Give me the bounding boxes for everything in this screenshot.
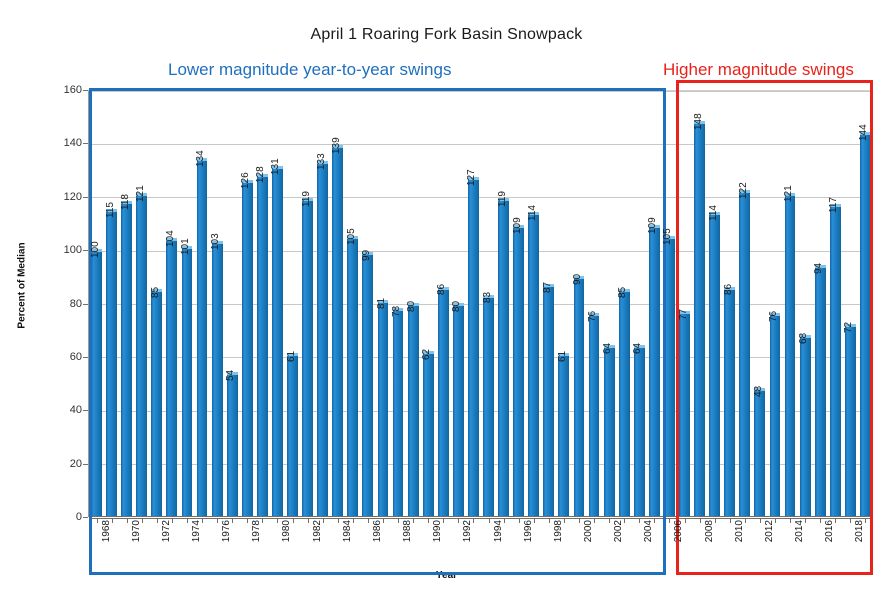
bar-value-label: 139 bbox=[331, 137, 342, 154]
x-axis-tick-mark bbox=[564, 518, 565, 523]
bar bbox=[151, 289, 162, 516]
bar-value-label: 105 bbox=[662, 228, 673, 245]
bar bbox=[815, 265, 826, 516]
x-axis-tick-mark bbox=[232, 518, 233, 523]
bar-value-label: 119 bbox=[497, 191, 508, 207]
x-axis-year-label: 2016 bbox=[824, 520, 835, 542]
gridline bbox=[89, 144, 871, 145]
y-axis-tick-label: 100 bbox=[42, 244, 82, 256]
bar bbox=[317, 161, 328, 516]
bar bbox=[106, 209, 117, 516]
x-axis-year-label: 2004 bbox=[643, 520, 654, 542]
bar bbox=[574, 276, 585, 516]
bar-value-label: 86 bbox=[436, 284, 447, 295]
x-axis-year-label: 1980 bbox=[281, 520, 292, 542]
bar bbox=[754, 388, 765, 516]
y-axis-tick-label: 40 bbox=[42, 404, 82, 416]
x-axis-year-label: 1992 bbox=[462, 520, 473, 542]
gridline bbox=[89, 518, 871, 519]
bar bbox=[558, 353, 569, 516]
bar-value-label: 48 bbox=[753, 386, 764, 397]
bar-value-label: 131 bbox=[270, 159, 281, 176]
bar-value-label: 76 bbox=[587, 311, 598, 322]
chart-canvas: April 1 Roaring Fork Basin Snowpack Lowe… bbox=[0, 0, 893, 601]
x-axis-year-label: 1990 bbox=[432, 520, 443, 542]
bar-value-label: 64 bbox=[632, 343, 643, 354]
bar-value-label: 101 bbox=[180, 239, 191, 256]
bar-value-label: 126 bbox=[240, 172, 251, 189]
x-axis-year-label: 2010 bbox=[734, 520, 745, 542]
x-axis-year-label: 2000 bbox=[583, 520, 594, 542]
bar bbox=[468, 177, 479, 516]
bar-value-label: 144 bbox=[858, 124, 869, 141]
x-axis-year-label: 1984 bbox=[342, 520, 353, 542]
bar bbox=[378, 300, 389, 516]
bar bbox=[634, 345, 645, 516]
bar-value-label: 121 bbox=[135, 185, 146, 202]
bar-value-label: 64 bbox=[602, 343, 613, 354]
y-axis-tick-label: 140 bbox=[42, 137, 82, 149]
bar bbox=[724, 287, 735, 517]
bar-value-label: 114 bbox=[527, 205, 538, 221]
bar bbox=[694, 121, 705, 516]
bar-value-label: 61 bbox=[286, 351, 297, 362]
x-axis-tick-mark bbox=[473, 518, 474, 523]
bar bbox=[332, 145, 343, 516]
y-axis-tick-mark bbox=[83, 517, 88, 518]
y-axis-tick-mark bbox=[83, 410, 88, 411]
x-axis-tick-mark bbox=[338, 518, 339, 523]
bar-value-label: 90 bbox=[572, 274, 583, 285]
x-axis-tick-mark bbox=[127, 518, 128, 523]
x-axis-tick-mark bbox=[443, 518, 444, 523]
x-axis-tick-mark bbox=[850, 518, 851, 523]
bar-value-label: 81 bbox=[376, 298, 387, 309]
bar bbox=[136, 193, 147, 516]
x-axis-tick-mark bbox=[790, 518, 791, 523]
bar-value-label: 80 bbox=[451, 300, 462, 311]
bar-value-label: 76 bbox=[768, 311, 779, 322]
x-axis-tick-mark bbox=[428, 518, 429, 523]
bar-value-label: 62 bbox=[421, 348, 432, 359]
bar-value-label: 86 bbox=[723, 284, 734, 295]
x-axis-tick-mark bbox=[685, 518, 686, 523]
bar bbox=[785, 193, 796, 516]
y-axis-tick-mark bbox=[83, 464, 88, 465]
bar bbox=[212, 241, 223, 516]
x-axis-year-label: 1970 bbox=[131, 520, 142, 542]
gridline bbox=[89, 91, 871, 92]
bar bbox=[362, 252, 373, 516]
bar bbox=[347, 236, 358, 516]
bar-value-label: 133 bbox=[316, 153, 327, 170]
x-axis-year-label: 1978 bbox=[251, 520, 262, 542]
x-axis-tick-mark bbox=[187, 518, 188, 523]
higher-magnitude-annotation: Higher magnitude swings bbox=[663, 60, 854, 80]
x-axis-year-label: 1976 bbox=[221, 520, 232, 542]
bar bbox=[679, 311, 690, 516]
x-axis-tick-mark bbox=[519, 518, 520, 523]
x-axis-tick-mark bbox=[383, 518, 384, 523]
bar bbox=[423, 351, 434, 516]
y-axis-tick-label: 160 bbox=[42, 84, 82, 96]
y-axis-tick-mark bbox=[83, 197, 88, 198]
bar bbox=[302, 198, 313, 516]
bar bbox=[845, 324, 856, 516]
bar-value-label: 122 bbox=[738, 183, 749, 200]
bar bbox=[664, 236, 675, 516]
x-axis-tick-mark bbox=[730, 518, 731, 523]
bar bbox=[227, 372, 238, 516]
bar-value-label: 87 bbox=[542, 282, 553, 293]
bar-value-label: 121 bbox=[783, 185, 794, 202]
y-axis-tick-label: 0 bbox=[42, 511, 82, 523]
x-axis-tick-mark bbox=[865, 518, 866, 523]
bar bbox=[287, 353, 298, 516]
bar-value-label: 128 bbox=[255, 167, 266, 184]
x-axis-tick-mark bbox=[609, 518, 610, 523]
x-axis-tick-mark bbox=[262, 518, 263, 523]
chart-title: April 1 Roaring Fork Basin Snowpack bbox=[0, 26, 893, 44]
bar-value-label: 148 bbox=[693, 113, 704, 130]
x-axis-tick-mark bbox=[549, 518, 550, 523]
x-axis-tick-mark bbox=[594, 518, 595, 523]
bar bbox=[166, 238, 177, 516]
bar-value-label: 100 bbox=[90, 241, 101, 258]
x-axis-tick-mark bbox=[458, 518, 459, 523]
x-axis-year-label: 1998 bbox=[553, 520, 564, 542]
bar bbox=[830, 204, 841, 516]
bar bbox=[543, 284, 554, 516]
bar-value-label: 85 bbox=[617, 287, 628, 298]
bar-value-label: 127 bbox=[466, 169, 477, 186]
bar-value-label: 78 bbox=[391, 306, 402, 317]
y-axis-title: Percent of Median bbox=[17, 226, 28, 346]
x-axis-tick-mark bbox=[654, 518, 655, 523]
bar-value-label: 134 bbox=[195, 151, 206, 168]
y-axis-tick-mark bbox=[83, 357, 88, 358]
bar bbox=[528, 212, 539, 516]
bar-value-label: 61 bbox=[557, 351, 568, 362]
bar-value-label: 105 bbox=[346, 228, 357, 245]
y-axis-tick-mark bbox=[83, 90, 88, 91]
x-axis-year-label: 2012 bbox=[764, 520, 775, 542]
bar bbox=[272, 166, 283, 516]
bar-value-label: 99 bbox=[361, 250, 372, 261]
bar bbox=[438, 287, 449, 517]
bar-value-label: 54 bbox=[225, 370, 236, 381]
bar bbox=[589, 313, 600, 516]
bar bbox=[513, 225, 524, 516]
x-axis-title: Year bbox=[0, 570, 893, 581]
bar bbox=[739, 190, 750, 516]
x-axis-tick-mark bbox=[835, 518, 836, 523]
bar-value-label: 117 bbox=[828, 197, 839, 213]
bar-value-label: 114 bbox=[708, 205, 719, 221]
bar bbox=[649, 225, 660, 516]
bar bbox=[121, 201, 132, 516]
x-axis-year-label: 2018 bbox=[854, 520, 865, 542]
bar bbox=[800, 335, 811, 516]
x-axis-tick-mark bbox=[202, 518, 203, 523]
x-axis-year-label: 1988 bbox=[402, 520, 413, 542]
bar bbox=[182, 246, 193, 516]
bar-value-label: 80 bbox=[406, 300, 417, 311]
bar bbox=[483, 295, 494, 517]
bar-value-label: 77 bbox=[678, 308, 689, 319]
x-axis-year-label: 2014 bbox=[794, 520, 805, 542]
x-axis-tick-mark bbox=[247, 518, 248, 523]
x-axis-tick-mark bbox=[97, 518, 98, 523]
bar-value-label: 109 bbox=[647, 217, 658, 234]
x-axis-tick-mark bbox=[413, 518, 414, 523]
x-axis-tick-mark bbox=[157, 518, 158, 523]
bar bbox=[197, 158, 208, 516]
x-axis-tick-mark bbox=[760, 518, 761, 523]
x-axis-tick-mark bbox=[624, 518, 625, 523]
x-axis-tick-mark bbox=[368, 518, 369, 523]
bar-value-label: 115 bbox=[105, 202, 116, 218]
x-axis-tick-mark bbox=[172, 518, 173, 523]
bar-value-label: 83 bbox=[482, 292, 493, 303]
bar-value-label: 118 bbox=[120, 194, 131, 210]
bar bbox=[770, 313, 781, 516]
y-axis-tick-mark bbox=[83, 143, 88, 144]
bar bbox=[619, 289, 630, 516]
x-axis-tick-mark bbox=[820, 518, 821, 523]
x-axis-year-label: 1974 bbox=[191, 520, 202, 542]
y-axis-tick-label: 80 bbox=[42, 298, 82, 310]
y-axis-tick-mark bbox=[83, 304, 88, 305]
bar bbox=[709, 212, 720, 516]
x-axis-tick-mark bbox=[277, 518, 278, 523]
bar bbox=[393, 308, 404, 516]
x-axis-tick-mark bbox=[805, 518, 806, 523]
bar-value-label: 68 bbox=[798, 332, 809, 343]
bar-value-label: 103 bbox=[210, 233, 221, 250]
x-axis-tick-mark bbox=[398, 518, 399, 523]
x-axis-year-label: 1972 bbox=[161, 520, 172, 542]
x-axis-tick-mark bbox=[700, 518, 701, 523]
bar bbox=[453, 303, 464, 517]
bar-value-label: 104 bbox=[165, 231, 176, 248]
bar bbox=[498, 198, 509, 516]
y-axis-tick-label: 60 bbox=[42, 351, 82, 363]
bar bbox=[91, 249, 102, 516]
bar-value-label: 85 bbox=[150, 287, 161, 298]
bar bbox=[860, 132, 871, 516]
x-axis-year-label: 2008 bbox=[704, 520, 715, 542]
bar-value-label: 119 bbox=[301, 191, 312, 207]
x-axis-tick-mark bbox=[308, 518, 309, 523]
y-axis-tick-label: 120 bbox=[42, 191, 82, 203]
x-axis-tick-mark bbox=[775, 518, 776, 523]
x-axis-tick-mark bbox=[579, 518, 580, 523]
x-axis-year-label: 2006 bbox=[673, 520, 684, 542]
x-axis-year-label: 1994 bbox=[493, 520, 504, 542]
bar bbox=[257, 174, 268, 516]
x-axis-tick-mark bbox=[293, 518, 294, 523]
x-axis-year-label: 2002 bbox=[613, 520, 624, 542]
lower-magnitude-annotation: Lower magnitude year-to-year swings bbox=[168, 60, 451, 80]
bar-value-label: 109 bbox=[512, 217, 523, 234]
x-axis-year-label: 1982 bbox=[312, 520, 323, 542]
x-axis-tick-mark bbox=[489, 518, 490, 523]
x-axis-year-label: 1968 bbox=[101, 520, 112, 542]
x-axis-year-label: 1986 bbox=[372, 520, 383, 542]
x-axis-tick-mark bbox=[217, 518, 218, 523]
bar-value-label: 72 bbox=[843, 322, 854, 333]
x-axis-tick-mark bbox=[639, 518, 640, 523]
bar bbox=[604, 345, 615, 516]
y-axis-tick-label: 20 bbox=[42, 458, 82, 470]
x-axis-tick-mark bbox=[669, 518, 670, 523]
bar bbox=[242, 180, 253, 516]
y-axis-tick-mark bbox=[83, 250, 88, 251]
bar bbox=[408, 303, 419, 517]
x-axis-year-label: 1996 bbox=[523, 520, 534, 542]
bar-value-label: 94 bbox=[813, 263, 824, 274]
